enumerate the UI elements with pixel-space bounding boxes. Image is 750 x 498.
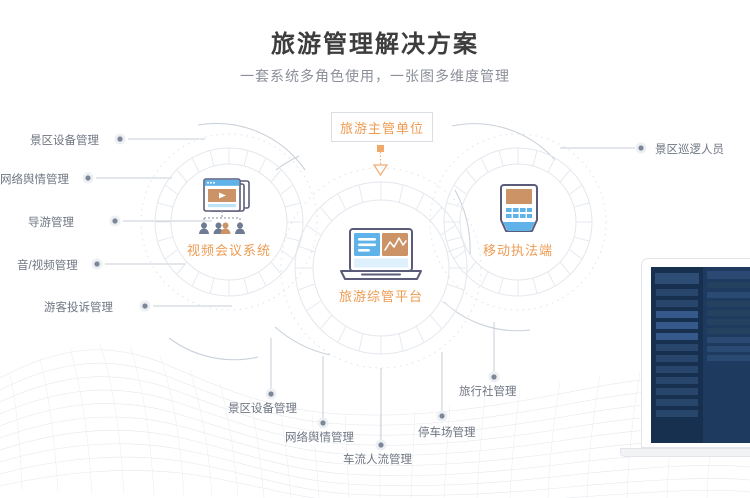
dashboard-row xyxy=(707,346,750,352)
dashboard-row xyxy=(707,301,750,307)
dashboard-menu-item xyxy=(656,355,698,362)
dashboard-menu-item xyxy=(656,344,698,351)
dashboard-menu-item xyxy=(656,300,698,307)
dashboard-menu-item xyxy=(656,333,698,340)
gov-arrow-icon xyxy=(374,145,387,175)
label-bottom-5: 旅行社管理 xyxy=(459,383,517,399)
label-bottom-1: 景区设备管理 xyxy=(228,400,297,416)
dashboard-menu-item xyxy=(656,388,698,395)
dashboard-menu-item xyxy=(656,289,698,296)
dashboard-menu-item xyxy=(656,322,698,329)
label-left-4: 音/视频管理 xyxy=(17,257,78,273)
laptop-screen xyxy=(641,258,750,448)
dashboard-toolbar xyxy=(707,271,750,279)
laptop-chart-icon xyxy=(337,228,425,286)
dashboard-menu-item xyxy=(656,377,698,384)
node-label-video-conference: 视频会议系统 xyxy=(139,240,319,259)
page-subtitle: 一套系统多角色使用，一张图多维度管理 xyxy=(0,66,750,86)
page-title: 旅游管理解决方案 xyxy=(0,24,750,59)
video-window-icon xyxy=(193,178,265,240)
dashboard-brand xyxy=(655,273,699,284)
gov-authority-label: 旅游主管单位 xyxy=(340,118,424,137)
dashboard-tree-panel xyxy=(707,292,750,382)
dashboard-body xyxy=(707,292,750,382)
dashboard-filterbar xyxy=(707,282,750,288)
label-left-3: 导游管理 xyxy=(28,214,74,230)
dashboard-row xyxy=(707,292,750,298)
handheld-device-icon xyxy=(497,182,541,240)
dashboard-row xyxy=(707,310,750,316)
dashboard-sidebar xyxy=(651,267,703,443)
dashboard-menu-item xyxy=(656,399,698,406)
label-bottom-4: 停车场管理 xyxy=(418,424,476,440)
label-bottom-2: 网络舆情管理 xyxy=(285,429,354,445)
dashboard-mockup xyxy=(651,267,750,443)
node-label-mobile-enforce: 移动执法端 xyxy=(428,240,608,259)
dashboard-row xyxy=(707,328,750,334)
gov-authority-box: 旅游主管单位 xyxy=(331,112,433,142)
dashboard-menu-item xyxy=(656,366,698,373)
label-left-1: 景区设备管理 xyxy=(30,132,99,148)
dashboard-row xyxy=(707,337,750,343)
label-left-5: 游客投诉管理 xyxy=(44,299,113,315)
dashboard-row xyxy=(707,355,750,361)
label-bottom-3: 车流人流管理 xyxy=(343,451,412,467)
node-label-platform: 旅游综管平台 xyxy=(291,286,471,305)
dashboard-menu-item xyxy=(656,311,698,318)
label-right-1: 景区巡逻人员 xyxy=(655,141,724,157)
dashboard-row xyxy=(707,319,750,325)
laptop-base xyxy=(620,448,750,457)
label-left-2: 网络舆情管理 xyxy=(0,171,69,187)
solution-diagram-page: 旅游管理解决方案 一套系统多角色使用，一张图多维度管理 xyxy=(0,0,750,498)
dashboard-menu-item xyxy=(656,410,698,417)
dashboard-content xyxy=(703,267,750,443)
